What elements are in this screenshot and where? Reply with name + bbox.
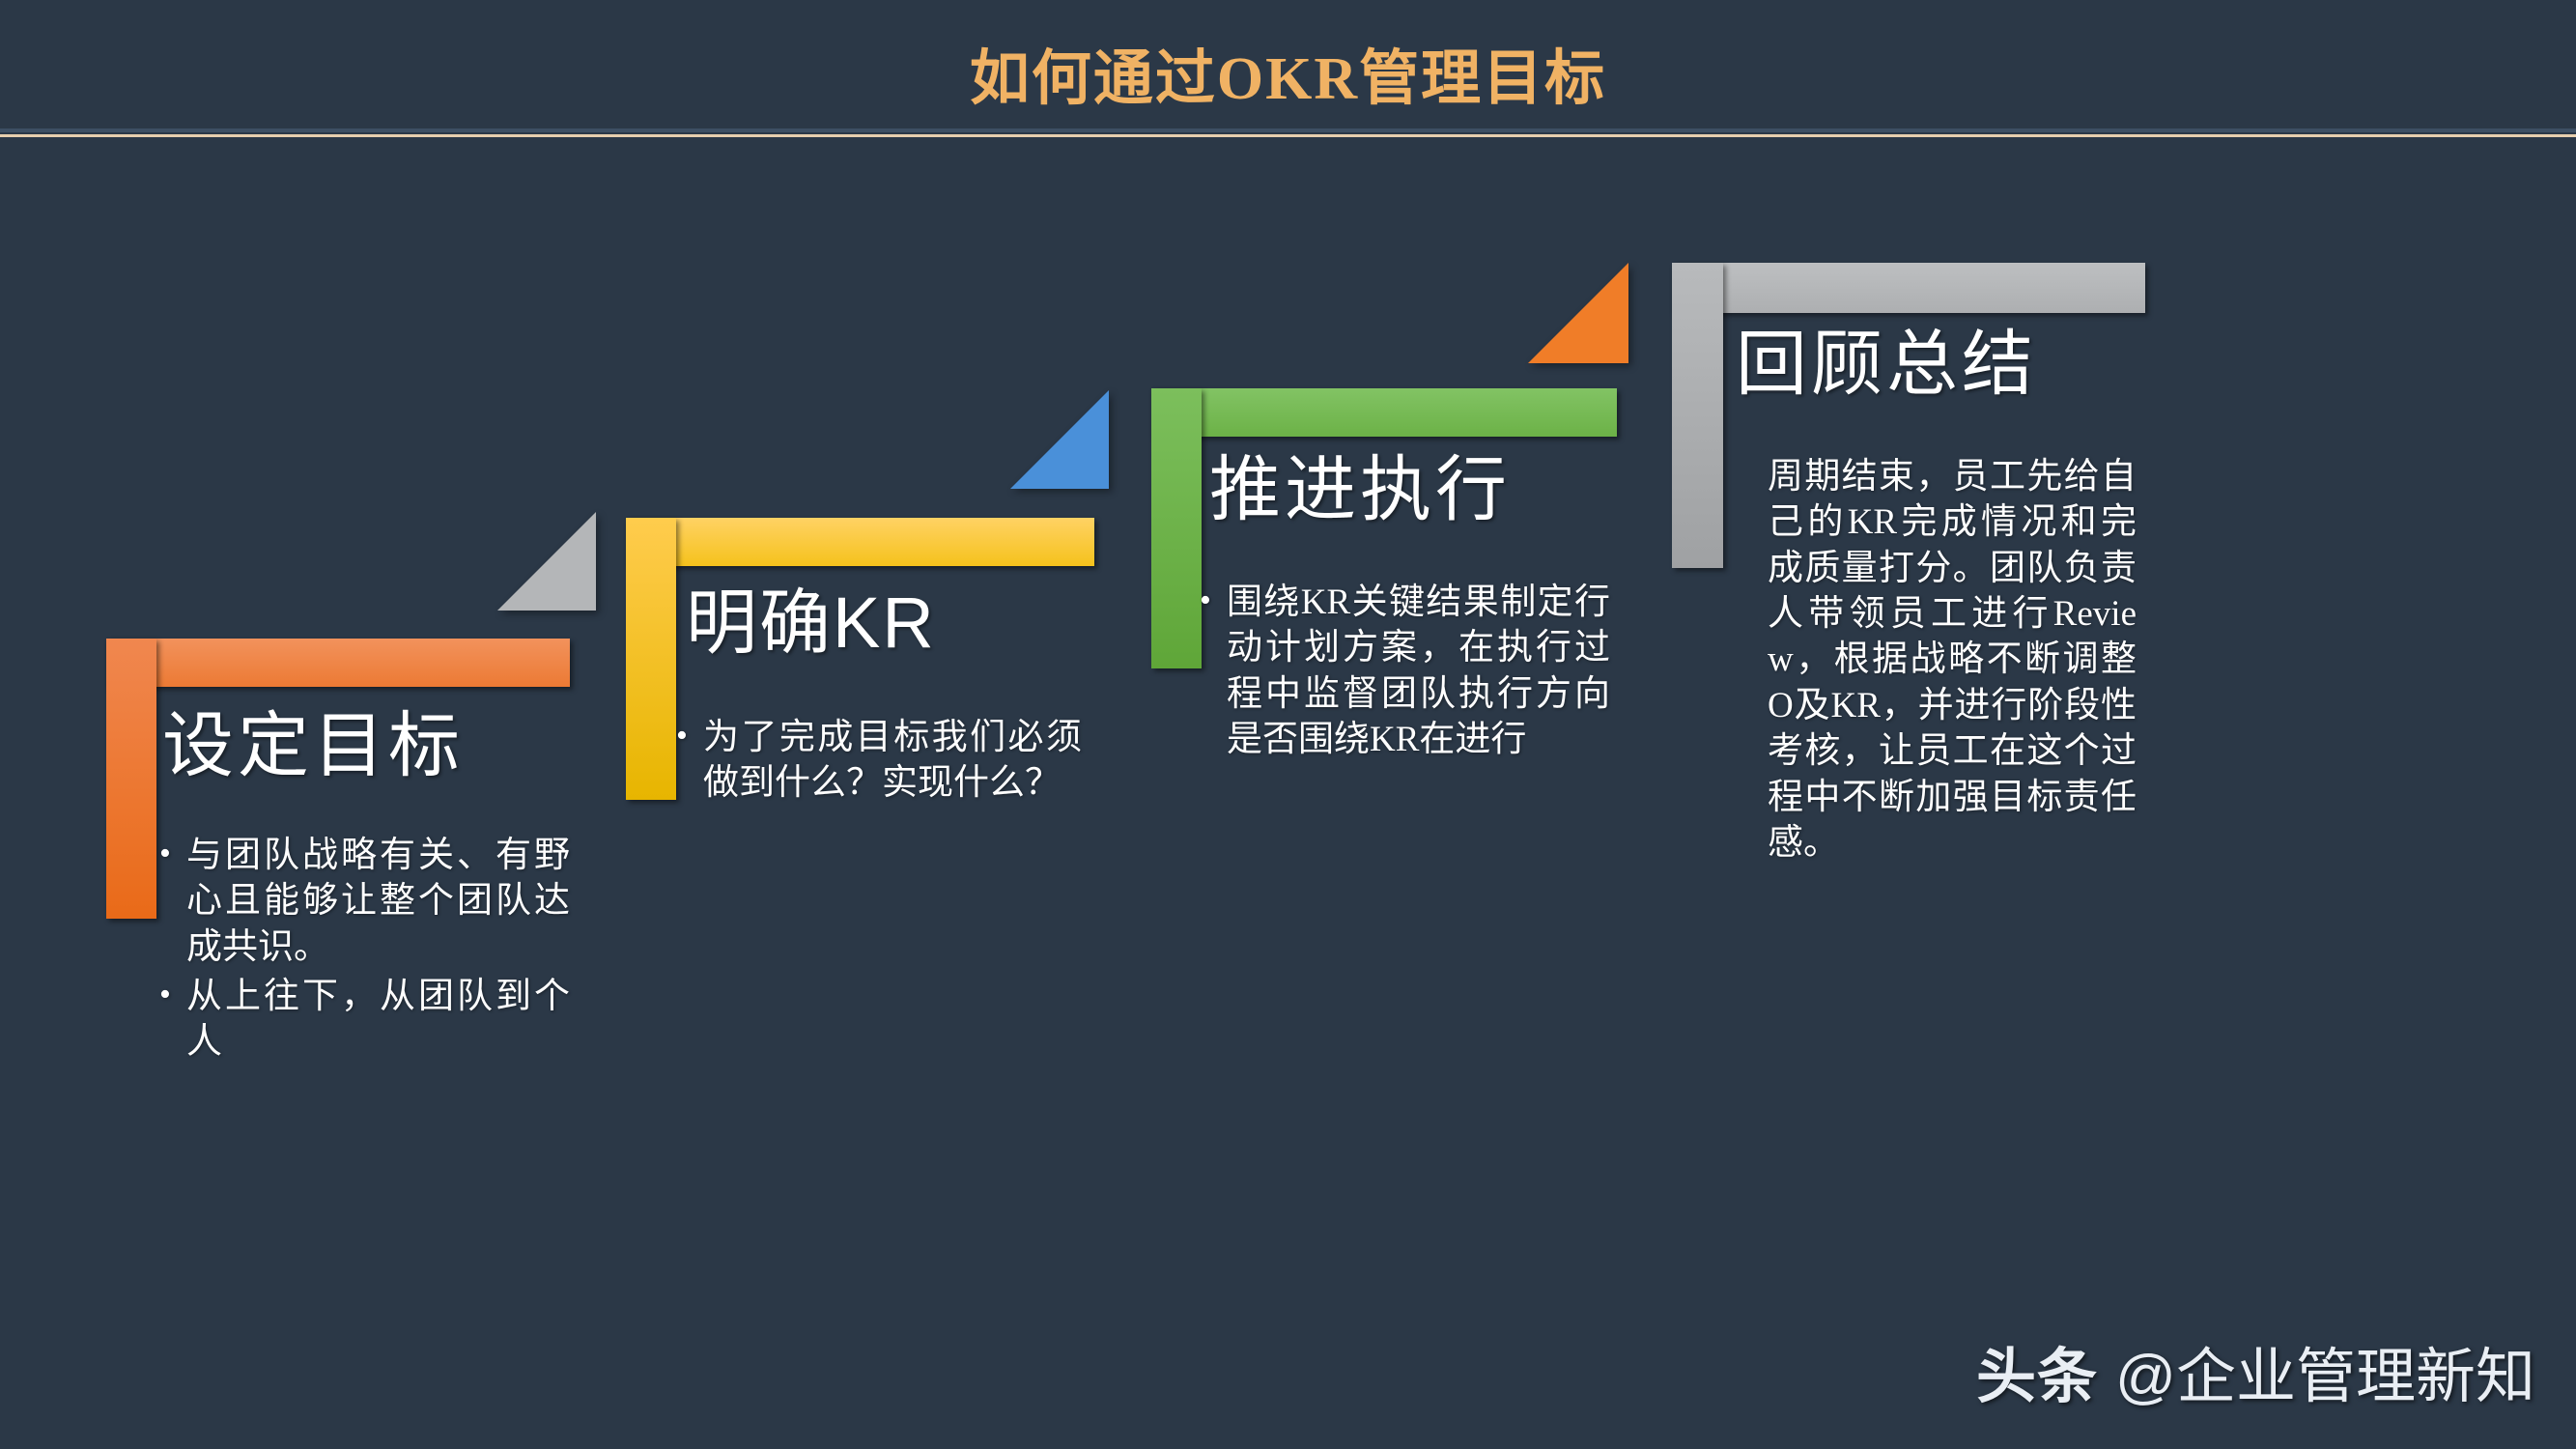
card-review-summary: 回顾总结 周期结束，员工先给自己的KR完成情况和完成质量打分。团队负责人带领员工… xyxy=(0,0,2222,1352)
watermark-handle: @企业管理新知 xyxy=(2115,1327,2535,1414)
slide-canvas: 如何通过OKR管理目标 设定目标 • 与团队战略有关、有野心且能够让整个团队达成… xyxy=(0,0,2576,1449)
card-body-review-summary: 周期结束，员工先给自己的KR完成情况和完成质量打分。团队负责人带领员工进行Rev… xyxy=(1768,454,2137,866)
watermark: 头条 @企业管理新知 xyxy=(1976,1327,2535,1414)
card-bracket-horizontal xyxy=(1672,263,2145,313)
card-title-review-summary: 回顾总结 xyxy=(1736,328,2037,400)
card-bracket-vertical xyxy=(1672,263,1723,568)
watermark-brand: 头条 xyxy=(1976,1327,2098,1414)
